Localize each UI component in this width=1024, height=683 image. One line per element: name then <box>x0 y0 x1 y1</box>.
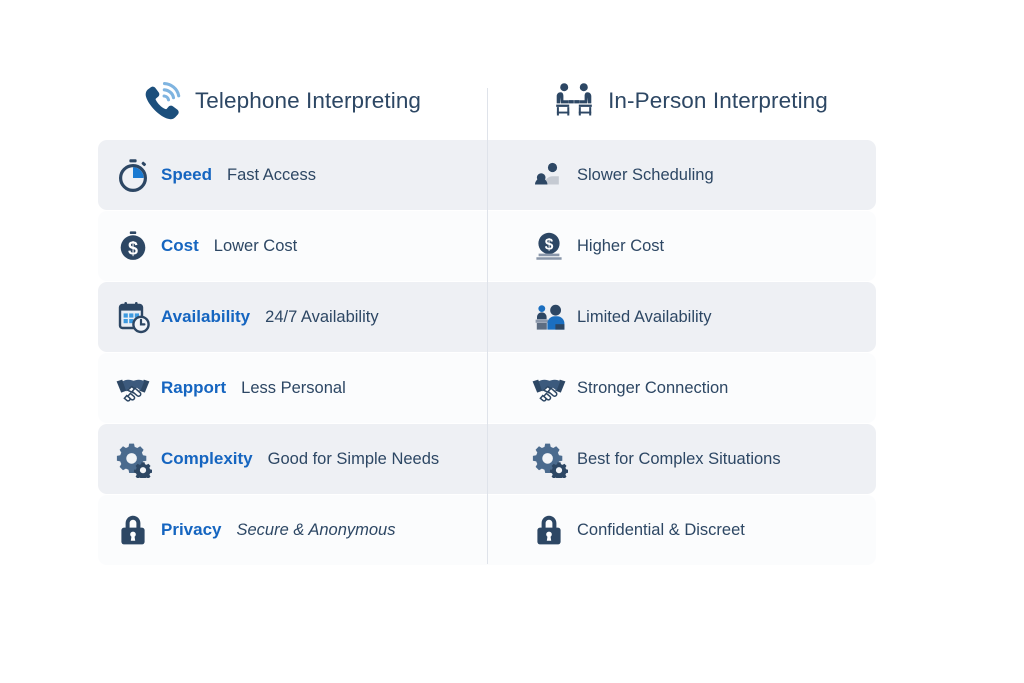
row-label: Rapport <box>161 378 226 398</box>
row-cell-telephone: Availability 24/7 Availability <box>98 282 487 352</box>
row-cell-in-person: Confidential & Discreet <box>487 495 876 565</box>
row-value: Best for Complex Situations <box>577 450 781 469</box>
gears-icon <box>114 440 152 478</box>
row-cell-in-person: Stronger Connection <box>487 353 876 423</box>
row-value: Higher Cost <box>577 237 664 256</box>
lock-icon <box>530 511 568 549</box>
row-cell-in-person: $ Higher Cost <box>487 211 876 281</box>
row-label: Availability <box>161 307 250 327</box>
row-cell-in-person: Limited Availability <box>487 282 876 352</box>
dollar-coin-icon: $ <box>114 227 152 265</box>
row-label: Complexity <box>161 449 253 469</box>
row-value: Less Personal <box>241 379 346 398</box>
person-waiting-icon <box>530 156 568 194</box>
two-people-seated-icon <box>551 78 597 124</box>
handshake-icon <box>530 369 568 407</box>
person-desk-icon <box>530 298 568 336</box>
row-cell-in-person: Slower Scheduling <box>487 140 876 210</box>
row-cell-telephone: $ Cost Lower Cost <box>98 211 487 281</box>
column-header-telephone: Telephone Interpreting <box>98 62 487 140</box>
row-value: Slower Scheduling <box>577 166 714 185</box>
comparison-table: Telephone Interpreting <box>98 62 876 566</box>
row-label: Cost <box>161 236 199 256</box>
handshake-icon <box>114 369 152 407</box>
row-value: Good for Simple Needs <box>268 450 440 469</box>
row-label: Speed <box>161 165 212 185</box>
gears-icon <box>530 440 568 478</box>
row-value: Secure & Anonymous <box>237 521 396 540</box>
column-header-label: Telephone Interpreting <box>195 88 421 114</box>
column-header-label: In-Person Interpreting <box>608 88 828 114</box>
column-header-in-person: In-Person Interpreting <box>487 62 876 140</box>
row-value: Stronger Connection <box>577 379 728 398</box>
row-value: Lower Cost <box>214 237 297 256</box>
svg-text:$: $ <box>128 238 138 258</box>
svg-text:$: $ <box>545 236 554 253</box>
lock-icon <box>114 511 152 549</box>
row-cell-in-person: Best for Complex Situations <box>487 424 876 494</box>
row-cell-telephone: Complexity Good for Simple Needs <box>98 424 487 494</box>
phone-ring-icon <box>138 78 184 124</box>
row-value: Limited Availability <box>577 308 712 327</box>
row-value: 24/7 Availability <box>265 308 378 327</box>
row-cell-telephone: Speed Fast Access <box>98 140 487 210</box>
dollar-coin-stand-icon: $ <box>530 227 568 265</box>
row-cell-telephone: Rapport Less Personal <box>98 353 487 423</box>
row-label: Privacy <box>161 520 222 540</box>
infographic-canvas: Telephone Interpreting <box>0 0 1024 683</box>
column-divider <box>487 88 488 564</box>
row-value: Fast Access <box>227 166 316 185</box>
stopwatch-icon <box>114 156 152 194</box>
row-value: Confidential & Discreet <box>577 521 745 540</box>
calendar-clock-icon <box>114 298 152 336</box>
row-cell-telephone: Privacy Secure & Anonymous <box>98 495 487 565</box>
